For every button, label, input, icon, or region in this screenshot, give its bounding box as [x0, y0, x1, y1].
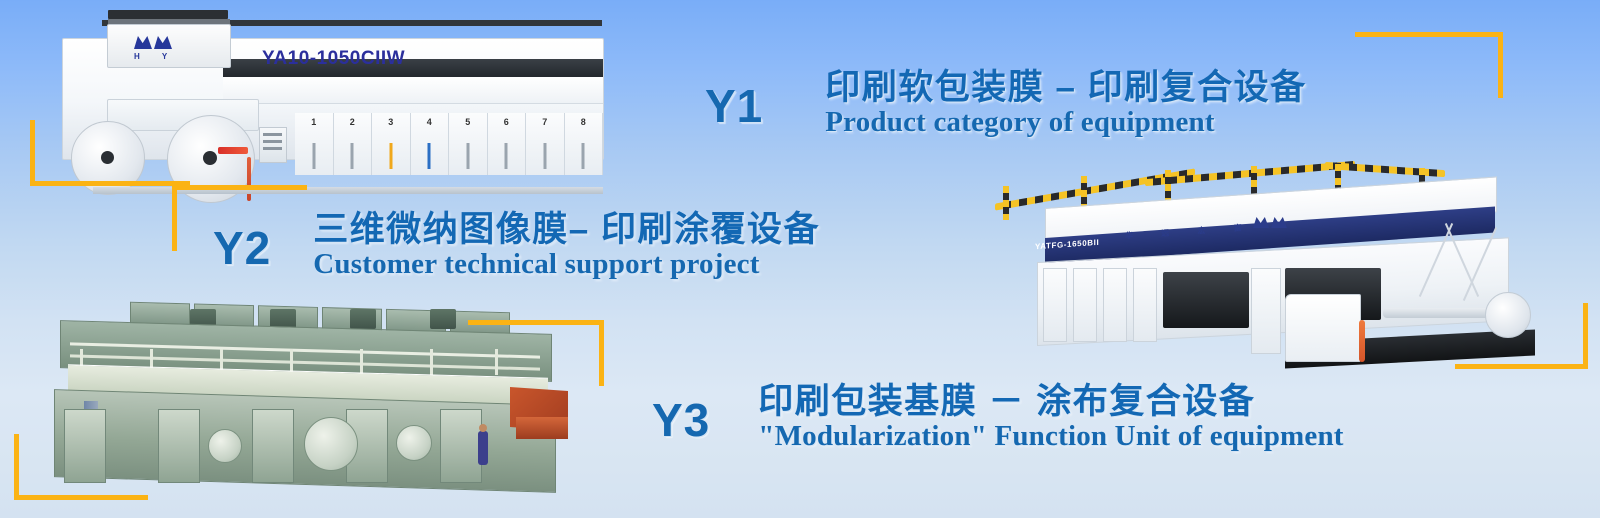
m1-unit-number: 5: [465, 117, 470, 127]
m2-orange-hose: [1359, 320, 1365, 362]
m3-process-unit: [158, 409, 200, 483]
m1-unit-number: 8: [581, 117, 586, 127]
m2-drying-tunnel: [1163, 272, 1249, 328]
entry-y3: Y3 印刷包装基膜 － 涂布复合设备 "Modularization" Func…: [652, 386, 1344, 453]
m1-top-rail: [108, 10, 228, 19]
entry-y1-code: Y1: [705, 83, 763, 129]
entry-y2: Y2 三维微纳图像膜– 印刷涂覆设备 Customer technical su…: [213, 214, 820, 281]
m3-catwalk-post: [360, 349, 363, 375]
machine-photo-coating-laminator: 华 远 宏 富 YATFG-1650BII: [985, 168, 1545, 373]
m1-print-unit: 3: [372, 113, 411, 175]
m2-station-column: [1133, 268, 1157, 342]
entry-y3-subtitle-en: "Modularization" Function Unit of equipm…: [758, 421, 1343, 453]
bracket-segment-horizontal: [468, 320, 604, 325]
entry-y2-code: Y2: [213, 225, 271, 271]
m3-process-unit: [252, 409, 294, 483]
m1-print-unit: 5: [449, 113, 488, 175]
m1-orange-cable: [247, 157, 251, 201]
m1-roll-hub: [203, 151, 217, 165]
m3-drive-motor: [350, 309, 376, 329]
m1-label-band: [223, 77, 603, 104]
m2-station-column: [1103, 268, 1127, 342]
entry-y3-code: Y3: [652, 397, 710, 443]
bracket-segment-horizontal: [172, 185, 307, 190]
m3-drive-motor: [430, 309, 456, 329]
m2-guardrail-post: [1003, 186, 1009, 220]
product-category-banner: 1 2 3 4 5 6 7 8 H Y YA10-1050CIIW: [0, 0, 1600, 518]
m1-unit-number: 2: [350, 117, 355, 127]
m2-scissor-frame: [1415, 220, 1505, 294]
m1-print-unit: 7: [526, 113, 565, 175]
m1-model-label: YA10-1050CIIW: [262, 48, 405, 70]
m1-print-unit: 6: [488, 113, 527, 175]
bracket-segment-horizontal: [30, 181, 190, 186]
bracket-segment-horizontal: [1455, 364, 1588, 369]
m1-roll-hub: [101, 151, 114, 164]
machine-photo-rotogravure-press: 1 2 3 4 5 6 7 8 H Y YA10-1050CIIW: [62, 8, 602, 183]
m2-station-column: [1043, 268, 1067, 342]
m2-guardrail-bar: [1325, 162, 1445, 177]
m1-control-panel: [259, 127, 287, 163]
bracket-segment-vertical: [172, 185, 177, 251]
bracket-segment-vertical: [30, 120, 35, 186]
entry-y1-title-cn: 印刷软包装膜 – 印刷复合设备: [825, 68, 1306, 107]
m1-print-unit: 1: [295, 113, 334, 175]
m1-unit-number: 4: [427, 117, 432, 127]
entry-y3-title-cn: 印刷包装基膜 － 涂布复合设备: [758, 382, 1343, 421]
bracket-segment-horizontal: [14, 495, 148, 500]
m1-base-frame: [93, 187, 603, 194]
m1-unit-number: 7: [542, 117, 547, 127]
m1-unit-number: 6: [504, 117, 509, 127]
entry-y2-subtitle-en: Customer technical support project: [313, 249, 820, 281]
m3-coating-roll: [208, 429, 242, 463]
entry-y1: Y1 印刷软包装膜 – 印刷复合设备 Product category of e…: [705, 72, 1307, 139]
m3-coating-roll: [304, 417, 358, 471]
m3-catwalk-post: [430, 349, 433, 375]
machine-photo-paper-coating-line: [40, 305, 570, 490]
m1-print-unit: 8: [565, 113, 604, 175]
entry-y2-title-cn: 三维微纳图像膜– 印刷涂覆设备: [313, 210, 820, 249]
m3-process-unit: [440, 409, 482, 483]
m1-unit-number: 3: [388, 117, 393, 127]
m1-print-unit-row: 1 2 3 4 5 6 7 8: [295, 113, 603, 175]
bracket-segment-vertical: [14, 434, 19, 500]
m1-unit-number: 1: [311, 117, 316, 127]
m1-brand-letters: H Y: [134, 52, 177, 61]
m2-company-logo-icon: [1253, 217, 1293, 231]
m1-red-clamp-arm: [218, 147, 248, 154]
m1-print-unit: 2: [334, 113, 373, 175]
m2-rewind-roll: [1485, 292, 1531, 338]
m2-station-column: [1251, 268, 1281, 354]
m2-rewind-unit: [1285, 294, 1361, 362]
bracket-segment-horizontal: [1355, 32, 1503, 37]
m2-station-column: [1073, 268, 1097, 342]
m1-company-logo-icon: [134, 34, 180, 54]
m3-process-unit: [64, 409, 106, 483]
m1-print-unit: 4: [411, 113, 450, 175]
m3-coating-roll: [396, 425, 432, 461]
entry-y1-subtitle-en: Product category of equipment: [825, 107, 1306, 139]
m3-catwalk-post: [495, 349, 498, 375]
bracket-segment-vertical: [599, 320, 604, 386]
bracket-segment-vertical: [1583, 303, 1588, 369]
m3-operator-figure: [478, 431, 488, 465]
m3-red-end-section: [516, 417, 568, 439]
bracket-segment-vertical: [1498, 32, 1503, 98]
